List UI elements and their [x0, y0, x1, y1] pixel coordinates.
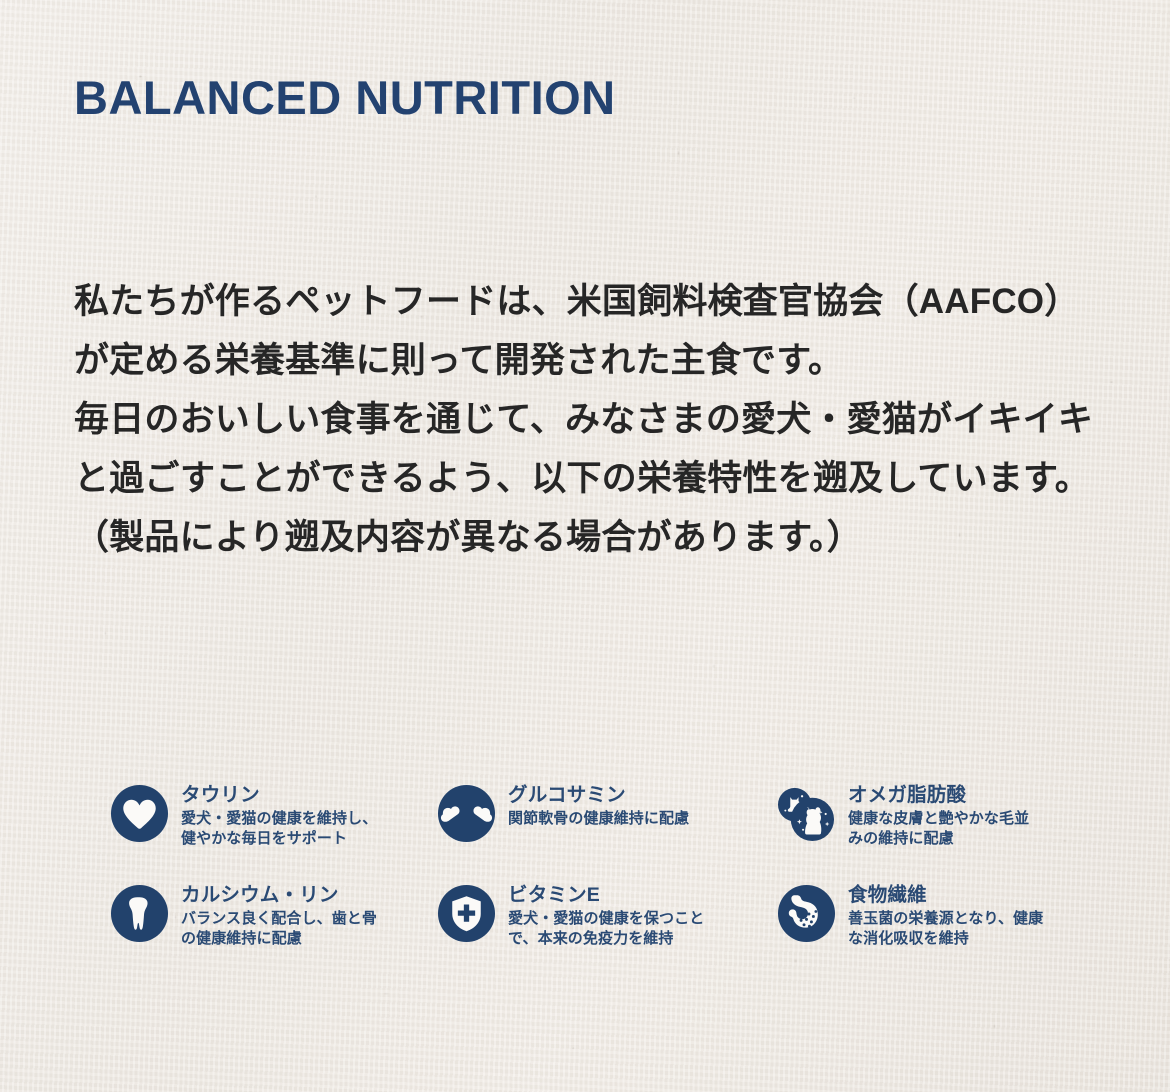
feature-text-block: オメガ脂肪酸 健康な皮膚と艶やかな毛並 みの維持に配慮 — [848, 783, 1029, 848]
tooth-icon — [110, 884, 169, 943]
feature-description: 健康な皮膚と艶やかな毛並 みの維持に配慮 — [848, 809, 1029, 848]
body-copy: 私たちが作るペットフードは、米国飼料検査官協会（AAFCO）が定める栄養基準に則… — [74, 272, 1094, 567]
feature-description: 愛犬・愛猫の健康を保つこと で、本来の免疫力を維持 — [508, 909, 704, 948]
nutrition-feature-grid: タウリン 愛犬・愛猫の健康を維持し、 健やかな毎日をサポート グルコサミン 関節… — [110, 783, 1120, 983]
feature-description: 関節軟骨の健康維持に配慮 — [508, 809, 689, 829]
cat-dog-sparkle-icon — [777, 784, 836, 843]
feature-text-block: カルシウム・リン バランス良く配合し、歯と骨 の健康維持に配慮 — [181, 883, 377, 948]
stomach-fiber-icon — [777, 884, 836, 943]
feature-description: バランス良く配合し、歯と骨 の健康維持に配慮 — [181, 909, 377, 948]
feature-item-vitamin-e: ビタミンE 愛犬・愛猫の健康を保つこと で、本来の免疫力を維持 — [437, 883, 777, 983]
joint-bone-icon — [437, 784, 496, 843]
feature-title: 食物繊維 — [848, 884, 1043, 907]
balanced-nutrition-section: BALANCED NUTRITION 私たちが作るペットフードは、米国飼料検査官… — [0, 0, 1170, 1092]
shield-plus-icon — [437, 884, 496, 943]
body-paragraph-1: 私たちが作るペットフードは、米国飼料検査官協会（AAFCO）が定める栄養基準に則… — [74, 272, 1094, 390]
feature-text-block: ビタミンE 愛犬・愛猫の健康を保つこと で、本来の免疫力を維持 — [508, 883, 704, 948]
feature-title: オメガ脂肪酸 — [848, 784, 1029, 807]
page-title: BALANCED NUTRITION — [74, 70, 616, 125]
body-paragraph-2: 毎日のおいしい食事を通じて、みなさまの愛犬・愛猫がイキイキと過ごすことができるよ… — [74, 390, 1094, 567]
feature-text-block: タウリン 愛犬・愛猫の健康を維持し、 健やかな毎日をサポート — [181, 783, 377, 848]
feature-item-calcium-phosphorus: カルシウム・リン バランス良く配合し、歯と骨 の健康維持に配慮 — [110, 883, 437, 983]
feature-item-dietary-fiber: 食物繊維 善玉菌の栄養源となり、健康 な消化吸収を維持 — [777, 883, 1120, 983]
feature-description: 善玉菌の栄養源となり、健康 な消化吸収を維持 — [848, 909, 1043, 948]
heart-icon — [110, 784, 169, 843]
feature-item-glucosamine: グルコサミン 関節軟骨の健康維持に配慮 — [437, 783, 777, 883]
feature-item-taurine: タウリン 愛犬・愛猫の健康を維持し、 健やかな毎日をサポート — [110, 783, 437, 883]
feature-text-block: グルコサミン 関節軟骨の健康維持に配慮 — [508, 783, 689, 829]
feature-item-omega-fatty-acid: オメガ脂肪酸 健康な皮膚と艶やかな毛並 みの維持に配慮 — [777, 783, 1120, 883]
feature-title: ビタミンE — [508, 884, 704, 907]
feature-title: カルシウム・リン — [181, 884, 377, 907]
feature-text-block: 食物繊維 善玉菌の栄養源となり、健康 な消化吸収を維持 — [848, 883, 1043, 948]
feature-title: グルコサミン — [508, 784, 689, 807]
feature-title: タウリン — [181, 784, 377, 807]
feature-description: 愛犬・愛猫の健康を維持し、 健やかな毎日をサポート — [181, 809, 377, 848]
